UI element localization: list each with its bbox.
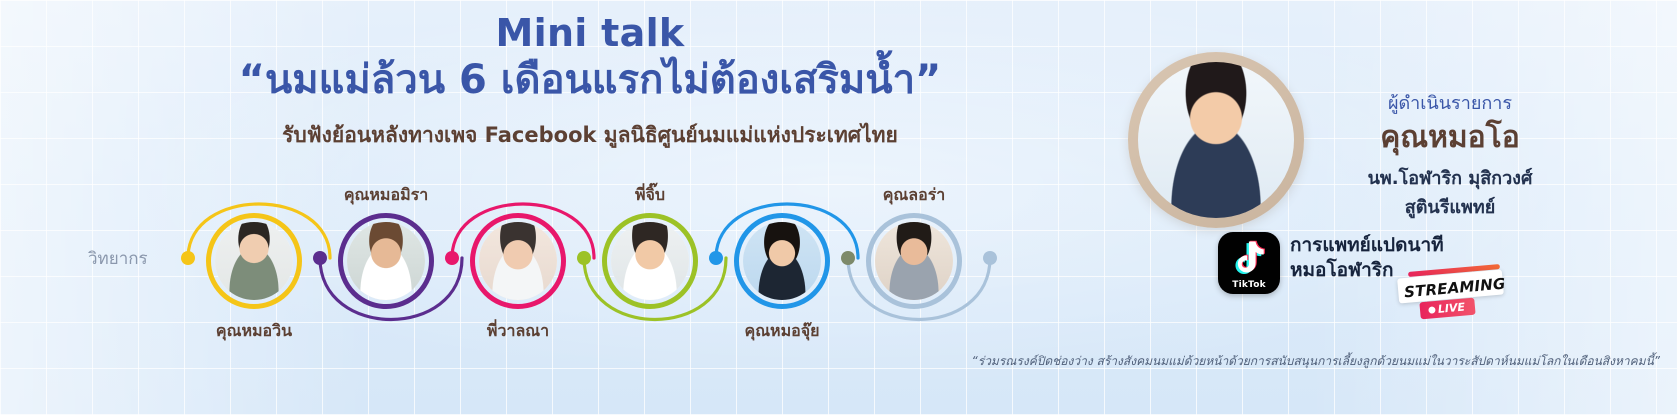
connector-dot (709, 251, 723, 265)
channel-name-line1: การแพทย์แปดนาที (1290, 233, 1444, 258)
host-specialty: สูตินรีแพทย์ (1285, 192, 1615, 221)
avatar (611, 222, 689, 300)
page-title: Mini talk (160, 12, 1020, 55)
speaker-ring (734, 213, 830, 309)
speaker-name: คุณลอร่า (883, 183, 946, 208)
speaker-photo (479, 222, 557, 300)
connector-dot (577, 251, 591, 265)
speaker-item-5[interactable]: คุณหมอจุ๊ย (734, 213, 830, 309)
speaker-photo (875, 222, 953, 300)
speaker-photo (611, 222, 689, 300)
live-dot-icon: ● (1428, 305, 1437, 316)
speaker-name: พี่วาลณา (487, 319, 549, 344)
avatar (743, 222, 821, 300)
speaker-ring (338, 213, 434, 309)
host-fullname: นพ.โอฬาริก มุสิกวงศ์ (1285, 163, 1615, 192)
host-photo (1138, 62, 1294, 218)
connector-dot (841, 251, 855, 265)
host-info: ผู้ดำเนินรายการ คุณหมอโอ นพ.โอฬาริก มุสิ… (1285, 88, 1615, 221)
speaker-photo (743, 222, 821, 300)
speaker-ring (866, 213, 962, 309)
connector-dot (313, 251, 327, 265)
host-ring (1128, 52, 1304, 228)
speaker-item-4[interactable]: พี่จิ๊บ (602, 213, 698, 309)
connector-dot-start (181, 251, 195, 265)
speaker-ring (602, 213, 698, 309)
live-label: LIVE (1437, 300, 1465, 315)
speaker-list: คุณหมอวิน คุณหมอมิรา พี่วาลณา (0, 180, 1060, 345)
speaker-name: คุณหมอมิรา (344, 183, 428, 208)
host-nickname: คุณหมอโอ (1285, 119, 1615, 157)
speaker-ring (470, 213, 566, 309)
tiktok-wordmark: TikTok (1218, 280, 1280, 290)
host-role-label: ผู้ดำเนินรายการ (1285, 88, 1615, 117)
speaker-item-1[interactable]: คุณหมอวิน (206, 213, 302, 309)
speaker-name: คุณหมอวิน (216, 319, 292, 344)
live-badge: ●LIVE (1419, 298, 1475, 320)
connector-dot-end (983, 251, 997, 265)
streaming-badge: STREAMING ●LIVE (1398, 268, 1508, 314)
avatar (215, 222, 293, 300)
speaker-item-6[interactable]: คุณลอร่า (866, 213, 962, 309)
speaker-name: คุณหมอจุ๊ย (745, 319, 820, 344)
host-avatar-wrap (1128, 52, 1304, 228)
avatar (875, 222, 953, 300)
avatar (347, 222, 425, 300)
speaker-ring (206, 213, 302, 309)
connector-dot (445, 251, 459, 265)
topic-title: “นมแม่ล้วน 6 เดือนแรกไม่ต้องเสริมน้ำ” (160, 57, 1020, 103)
event-banner: Mini talk “นมแม่ล้วน 6 เดือนแรกไม่ต้องเส… (0, 0, 1677, 415)
tiktok-icon: TikTok (1218, 232, 1280, 294)
headline-block: Mini talk “นมแม่ล้วน 6 เดือนแรกไม่ต้องเส… (160, 12, 1020, 152)
replay-subtitle: รับฟังย้อนหลังทางเพจ Facebook มูลนิธิศูน… (160, 119, 1020, 152)
speaker-item-2[interactable]: คุณหมอมิรา (338, 213, 434, 309)
speaker-name: พี่จิ๊บ (635, 183, 665, 208)
avatar (479, 222, 557, 300)
tiktok-logo[interactable]: TikTok (1218, 232, 1280, 294)
speaker-photo (215, 222, 293, 300)
speaker-photo (347, 222, 425, 300)
footer-note: “ร่วมรณรงค์ปิดช่องว่าง สร้างสังคมนมแม่ด้… (840, 352, 1660, 371)
speaker-item-3[interactable]: พี่วาลณา (470, 213, 566, 309)
